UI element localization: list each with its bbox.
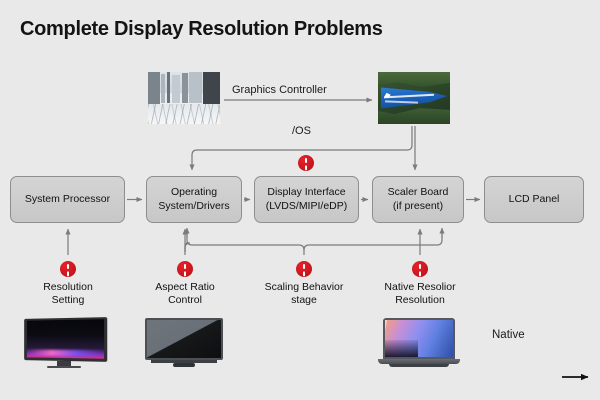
- pipeline-box-display-interface[interactable]: Display Interface (LVDS/MIPI/eDP): [254, 176, 359, 223]
- issue-label-scaling-behavior: Scaling Behavior stage: [244, 281, 364, 308]
- box-label-line1: Scaler Board: [388, 186, 449, 198]
- pipeline-box-scaler-board[interactable]: Scaler Board (if present): [372, 176, 464, 223]
- warning-icon-scaling-behavior[interactable]: [296, 261, 312, 277]
- warning-icon-native-resolution[interactable]: [412, 261, 428, 277]
- issue-label-resolution-setting: Resolution Setting: [8, 281, 128, 308]
- arrow-scaling-trunk-right: [304, 232, 442, 250]
- box-label-line2: (if present): [393, 200, 443, 212]
- issue-line1: Native Resolior: [384, 281, 455, 293]
- interior-architecture-photo: [148, 72, 220, 124]
- os-label: /OS: [292, 125, 311, 137]
- issue-line2: Resolution: [395, 294, 445, 306]
- native-label: Native: [492, 329, 525, 341]
- warning-icon-aspect-ratio-control[interactable]: [177, 261, 193, 277]
- issue-label-native-resolution: Native Resolior Resolution: [360, 281, 480, 308]
- box-label-line2: (LVDS/MIPI/eDP): [266, 200, 348, 212]
- graphics-controller-label: Graphics Controller: [232, 84, 327, 96]
- issue-line2: Setting: [52, 294, 85, 306]
- warning-icon-resolution-setting[interactable]: [60, 261, 76, 277]
- issue-line1: Scaling Behavior: [265, 281, 344, 293]
- box-label-line1: Display Interface: [267, 186, 345, 198]
- pipeline-box-operating-system[interactable]: Operating System/Drivers: [146, 176, 242, 223]
- warning-icon-display-interface[interactable]: [298, 155, 314, 171]
- issue-label-aspect-ratio-control: Aspect Ratio Control: [125, 281, 245, 308]
- pipeline-box-lcd-panel[interactable]: LCD Panel: [484, 176, 584, 223]
- box-label-line1: System Processor: [25, 193, 110, 205]
- issue-line2: Control: [168, 294, 202, 306]
- box-label-line2: System/Drivers: [158, 200, 229, 212]
- laptop-image: [378, 318, 460, 370]
- arrow-scaling-trunk: [187, 232, 304, 255]
- issue-line1: Resolution: [43, 281, 93, 293]
- box-label-line1: Operating: [171, 186, 217, 198]
- diagram-canvas: Complete Display Resolution Problems: [0, 0, 600, 400]
- desktop-monitor-image: [22, 318, 106, 370]
- flat-screen-tv-image: [145, 318, 223, 370]
- issue-line2: stage: [291, 294, 317, 306]
- pipeline-box-system-processor[interactable]: System Processor: [10, 176, 125, 223]
- box-label-line1: LCD Panel: [509, 193, 560, 205]
- coastal-bay-aerial-photo: [378, 72, 450, 124]
- issue-line1: Aspect Ratio: [155, 281, 215, 293]
